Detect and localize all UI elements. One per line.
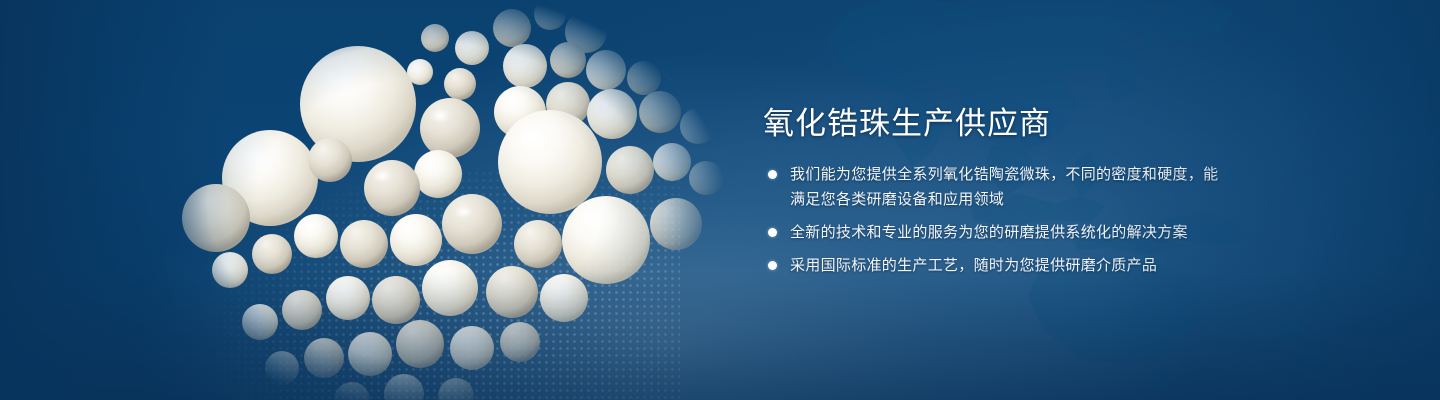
hero-banner: 氧化锆珠生产供应商 我们能为您提供全系列氧化锆陶瓷微珠，不同的密度和硬度，能满足… bbox=[0, 0, 1440, 400]
banner-vignette bbox=[0, 0, 1440, 400]
